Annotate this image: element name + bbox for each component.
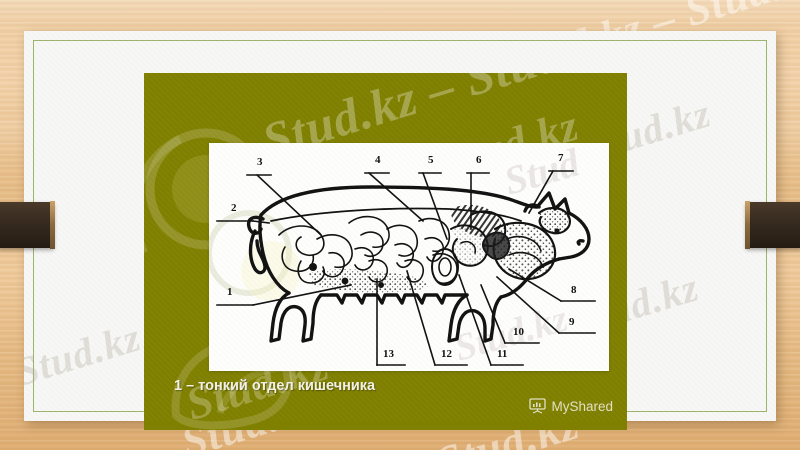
diagram-label-6: 6 (476, 154, 482, 166)
diagram-label-10: 10 (513, 326, 525, 338)
diagram-label-4: 4 (375, 154, 381, 166)
myshared-watermark: MyShared (529, 398, 613, 414)
diagram-caption: 1 – тонкий отдел кишечника (174, 378, 375, 394)
diagram-label-9: 9 (569, 316, 575, 328)
svg-text:Stud.kz: Stud.kz (450, 297, 572, 369)
diagram-label-13: 13 (383, 348, 395, 360)
diagram-label-5: 5 (428, 154, 434, 166)
diagram-label-7: 7 (558, 152, 564, 164)
right-hanging-bar (746, 202, 800, 248)
diagram-label-3: 3 (257, 156, 263, 168)
diagram-label-11: 11 (497, 348, 507, 360)
content-panel: Stud.kz – Stud.kz Stud.kz Stud.kz – Stud… (144, 73, 627, 430)
diagram-label-1: 1 (227, 286, 233, 298)
diagram-label-12: 12 (441, 348, 453, 360)
slide-screenshot: Stud.kz – Stud.kz Stud.kz – Stud.kz Stud… (0, 0, 800, 450)
slide-sheet: Stud.kz Stud.kz Stud.kz Stud.kz – Stud.k… (24, 31, 776, 421)
myshared-label: MyShared (551, 399, 613, 414)
diagram-label-2: 2 (231, 202, 237, 214)
svg-text:Stud: Stud (499, 143, 585, 204)
diagram-image: Stud Stud.kz (209, 143, 609, 371)
diagram-label-8: 8 (571, 284, 577, 296)
left-bar-cap (50, 201, 55, 249)
right-bar-cap (745, 201, 750, 249)
pig-anatomy-svg: Stud Stud.kz (209, 143, 609, 371)
presentation-screen-icon (529, 398, 546, 414)
left-hanging-bar (0, 202, 54, 248)
